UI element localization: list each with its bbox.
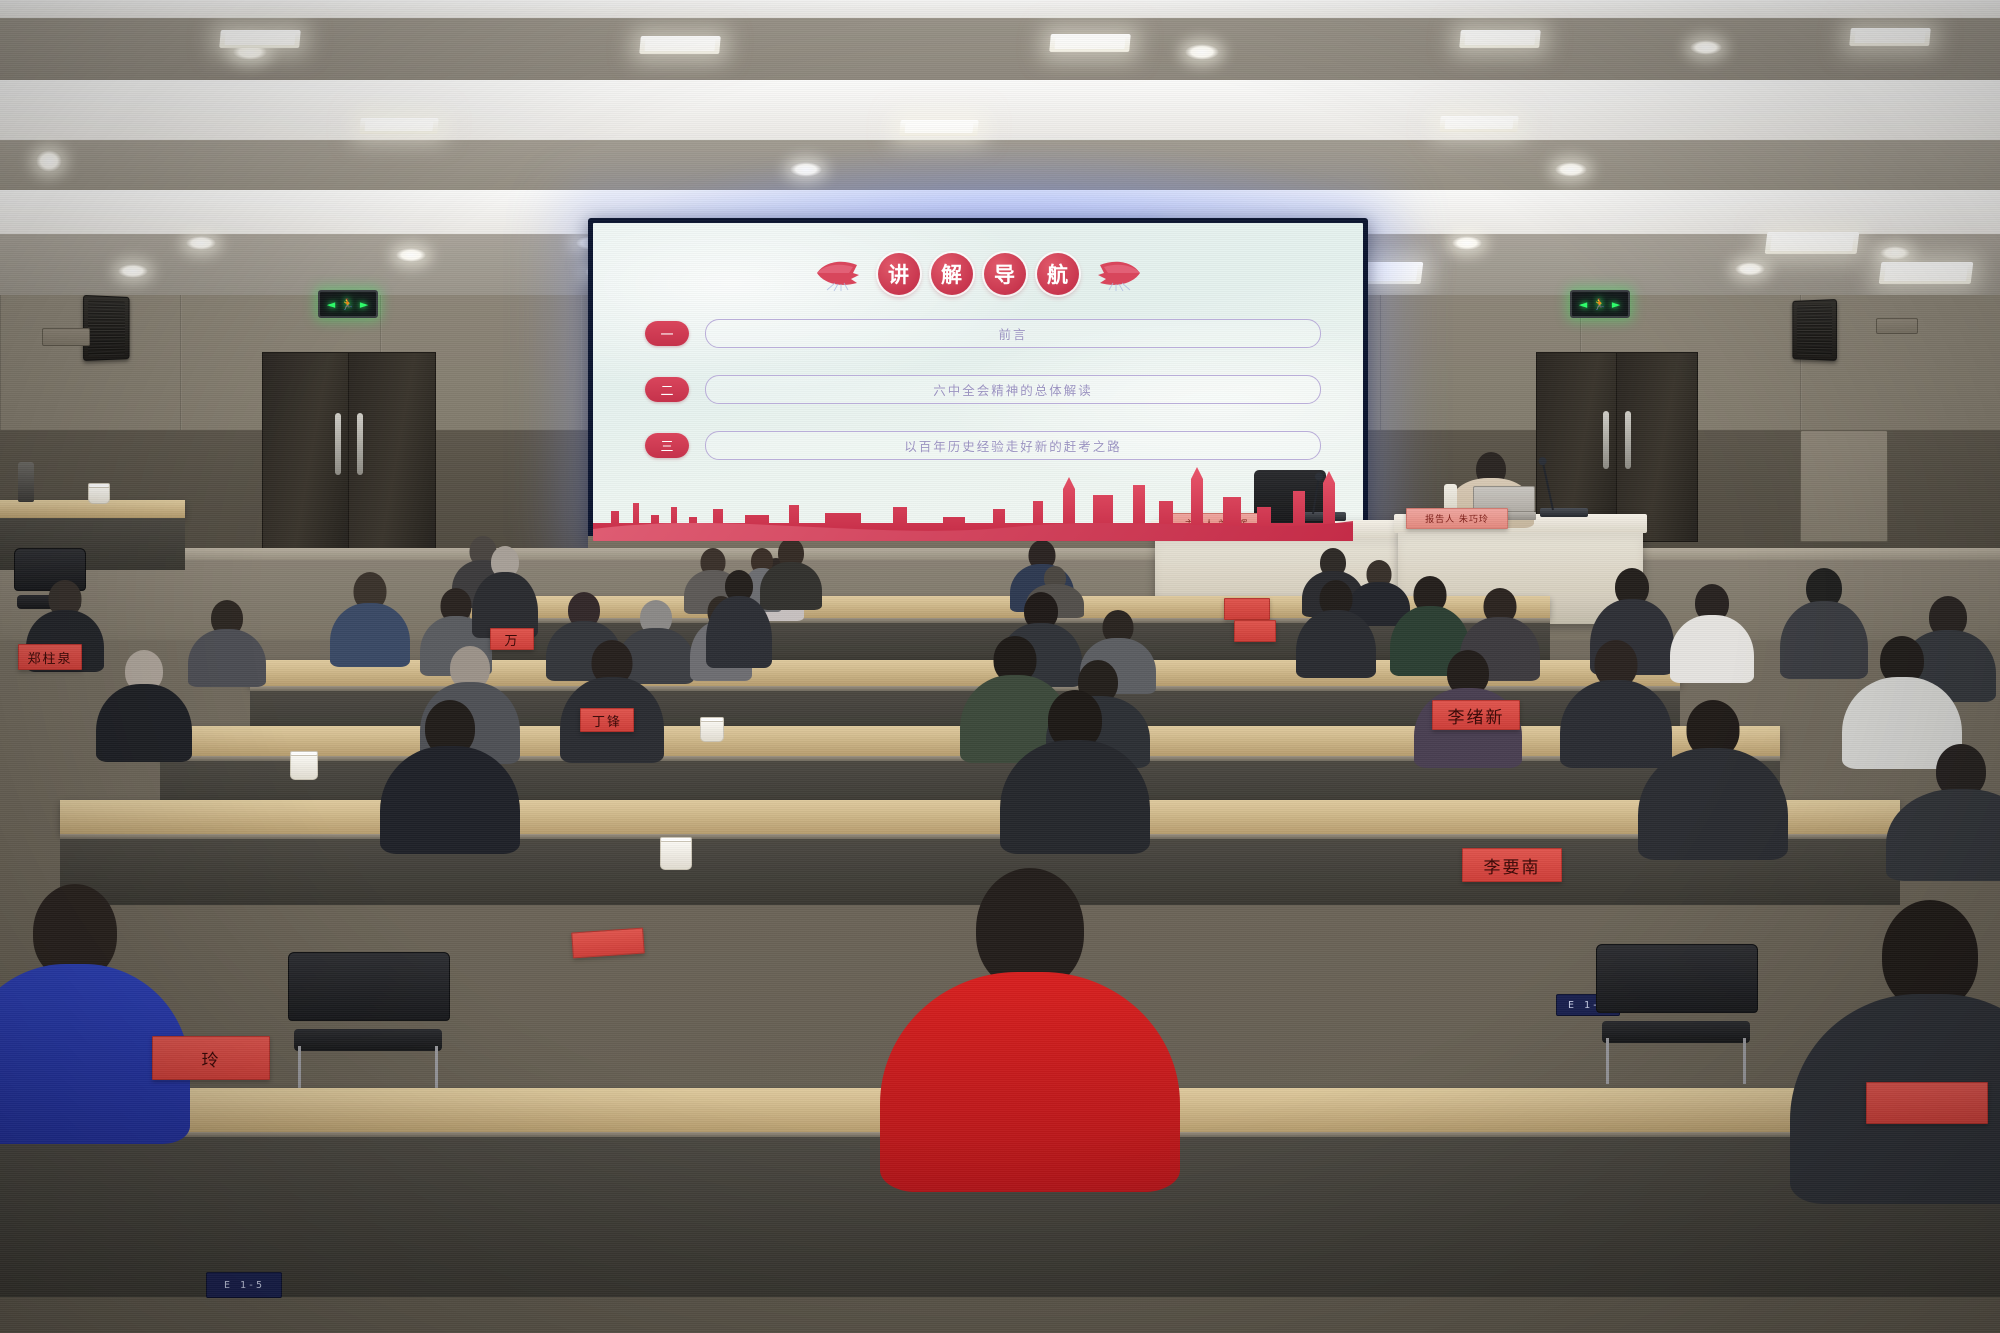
downlight — [790, 162, 822, 177]
chair-back — [288, 952, 450, 1021]
ceiling-panel-light — [1459, 30, 1541, 48]
slide-title-char-1: 讲 — [878, 253, 920, 295]
downlight — [1555, 162, 1587, 177]
exit-running-man-icon: ◄ 🏃 ► — [1579, 299, 1622, 310]
slide-agenda-item: 二 六中全会精神的总体解读 — [645, 375, 1321, 404]
body — [380, 746, 520, 854]
ceiling-panel-light — [1849, 28, 1931, 46]
agenda-text: 六中全会精神的总体解读 — [933, 380, 1093, 399]
body — [96, 684, 192, 762]
wall-cabinet — [1800, 430, 1888, 542]
nameplate-audience-folded — [571, 928, 645, 959]
ceiling-panel-light — [639, 36, 721, 54]
body — [1886, 789, 2000, 881]
door-left-a[interactable] — [262, 352, 350, 550]
ceiling-panel-light — [1049, 34, 1131, 52]
nameplate-text: 李绪新 — [1448, 703, 1505, 728]
desk-top — [60, 800, 1900, 834]
exit-sign-left: ◄ 🏃 ► — [318, 290, 378, 318]
microphone-base — [1540, 508, 1588, 517]
downlight — [186, 236, 216, 250]
slide-title-char-3: 导 — [984, 253, 1026, 295]
body — [1296, 610, 1376, 678]
agenda-number: 二 — [645, 377, 689, 402]
slide-agenda-list: 一 前言 二 六中全会精神的总体解读 三 以百年历史经验走好新的赶考之路 — [645, 319, 1321, 487]
nameplate-text — [1244, 602, 1250, 617]
attendee — [560, 640, 664, 760]
chair-seat — [1602, 1021, 1749, 1043]
nameplate-text: 李要南 — [1484, 853, 1541, 878]
attendee-foreground-right — [1790, 900, 2000, 1180]
attendee — [1296, 580, 1376, 674]
downlight — [1185, 44, 1219, 60]
paper-cup[interactable] — [88, 484, 110, 504]
body — [706, 596, 772, 668]
nameplate-audience-c — [1234, 620, 1276, 642]
attendee-foreground-center — [880, 868, 1180, 1168]
chair-seat — [294, 1029, 441, 1051]
nameplate-text: 丁锋 — [592, 711, 622, 730]
slide-agenda-item: 一 前言 — [645, 319, 1321, 348]
lecture-hall-photo: ◄ 🏃 ► ◄ 🏃 ► — [0, 0, 2000, 1333]
thermos-bottle[interactable] — [18, 462, 34, 502]
aisle-chair-right[interactable] — [1596, 944, 1756, 1084]
nameplate-audience-right-b: 李要南 — [1462, 848, 1562, 882]
red-flag-right-icon — [1090, 257, 1144, 291]
attendee — [1886, 744, 2000, 874]
ceiling-panel-light — [359, 118, 438, 134]
ceiling-panel-light — [219, 30, 301, 48]
door-left-b[interactable] — [348, 352, 436, 550]
door-handle[interactable] — [335, 413, 341, 475]
downlight — [1690, 40, 1722, 55]
ceiling-strip-2 — [0, 80, 2000, 140]
slide-agenda-item: 三 以百年历史经验走好新的赶考之路 — [645, 431, 1321, 460]
audience-desk-row-d — [60, 800, 1900, 834]
wall-outlet-box — [42, 328, 90, 346]
slide-title-char-2: 解 — [931, 253, 973, 295]
wall-speaker-left — [83, 295, 129, 361]
attendee — [472, 546, 538, 636]
downlight — [118, 264, 148, 278]
body — [1000, 740, 1150, 854]
door-handle[interactable] — [357, 413, 363, 475]
agenda-number: 三 — [645, 433, 689, 458]
nameplate-text — [1252, 624, 1258, 639]
attendee — [380, 700, 520, 850]
slide-title-char-4: 航 — [1037, 253, 1079, 295]
attendee — [96, 650, 192, 758]
agenda-pill: 以百年历史经验走好新的赶考之路 — [705, 431, 1321, 460]
nameplate-text — [1924, 1096, 1930, 1111]
red-flag-left-icon — [813, 257, 867, 291]
nameplate-text: 玲 — [202, 1046, 221, 1071]
nameplate-text — [604, 935, 611, 950]
agenda-text: 前言 — [998, 324, 1027, 343]
paper-cup[interactable] — [290, 752, 318, 780]
agenda-number: 一 — [645, 321, 689, 346]
desk-label-left: E 1-5 — [206, 1272, 282, 1298]
ceiling-strip-1 — [0, 0, 2000, 18]
exit-running-man-icon: ◄ 🏃 ► — [327, 299, 370, 310]
aisle-chair-left[interactable] — [288, 952, 448, 1092]
body — [188, 629, 266, 687]
downlight — [1452, 236, 1482, 250]
downlight — [1880, 246, 1910, 260]
paper-cup[interactable] — [660, 838, 692, 870]
chair-back — [1596, 944, 1758, 1013]
led-presentation-screen: 讲 解 导 航 一 — [588, 218, 1368, 546]
agenda-pill: 前言 — [705, 319, 1321, 348]
body — [880, 972, 1180, 1192]
chair-leg — [1743, 1038, 1746, 1084]
nameplate-speaker-text: 报告人 朱巧玲 — [1425, 512, 1489, 525]
agenda-pill: 六中全会精神的总体解读 — [705, 375, 1321, 404]
slide-surface: 讲 解 导 航 一 — [593, 223, 1363, 541]
ceiling-panel-light — [1765, 232, 1860, 254]
desk-label-text: E 1-5 — [224, 1280, 264, 1291]
agenda-text: 以百年历史经验走好新的赶考之路 — [904, 436, 1122, 455]
attendee — [188, 600, 266, 682]
nameplate-audience-right-a: 李绪新 — [1432, 700, 1520, 730]
ceiling-panel-light — [1879, 262, 1974, 284]
body — [1638, 748, 1788, 860]
wall-speaker-right — [1792, 299, 1837, 361]
downlight — [1735, 262, 1765, 276]
ceiling-bay-2 — [0, 140, 2000, 190]
chair-leg — [1606, 1038, 1609, 1084]
nameplate-audience-left-upper: 郑柱泉 — [18, 644, 82, 670]
attendee — [706, 570, 772, 666]
attendee — [1670, 584, 1754, 680]
nameplate-audience-far-right — [1866, 1082, 1988, 1124]
chair-leg — [298, 1046, 301, 1092]
chair-leg — [435, 1046, 438, 1092]
paper-cup[interactable] — [700, 718, 724, 742]
downlight — [396, 248, 426, 262]
nameplate-speaker: 报告人 朱巧玲 — [1406, 508, 1508, 529]
ceiling-panel-light — [1439, 116, 1518, 132]
door-handle[interactable] — [1603, 411, 1609, 469]
nameplate-text: 郑柱泉 — [27, 648, 72, 667]
nameplate-audience — [1224, 598, 1270, 620]
door-handle[interactable] — [1625, 411, 1631, 469]
nameplate-audience-mid-b: 丁锋 — [580, 708, 634, 732]
body — [1670, 615, 1754, 683]
attendee — [1638, 700, 1788, 856]
attendee-foreground-left — [0, 884, 190, 1134]
attendee — [330, 572, 410, 664]
attendee — [1000, 690, 1150, 850]
ceiling-speaker — [36, 150, 62, 172]
nameplate-audience-left-lower: 玲 — [152, 1036, 270, 1080]
ceiling-panel-light — [899, 120, 978, 136]
exit-sign-right: ◄ 🏃 ► — [1570, 290, 1630, 318]
slide-title-row: 讲 解 导 航 — [593, 253, 1363, 295]
body — [330, 603, 410, 667]
wall-outlet-box — [1876, 318, 1918, 334]
